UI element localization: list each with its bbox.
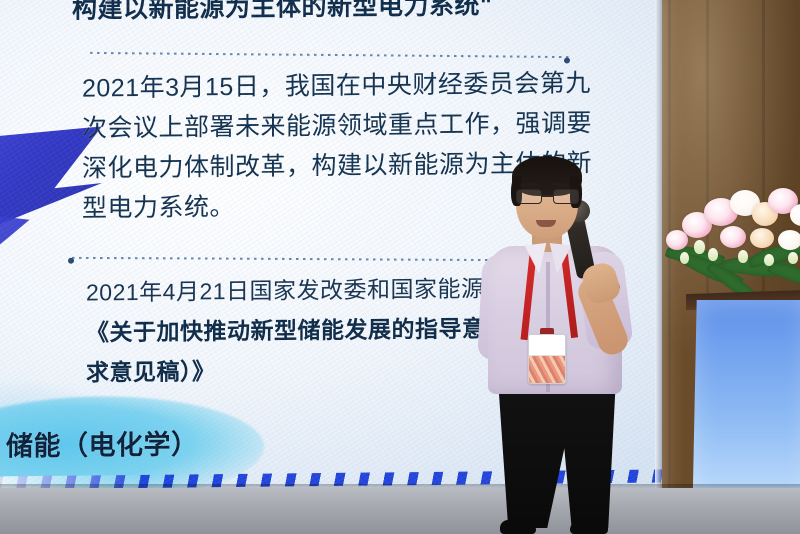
glasses-bridge	[542, 195, 553, 197]
slide-paragraph-line-1: 2021年3月15日，我国在中央财经委员会第九	[82, 63, 591, 104]
badge-top-panel	[529, 335, 565, 356]
badge-bottom-panel	[529, 356, 565, 383]
stage-floor	[0, 488, 800, 534]
slide-title-line: 构建以新能源为主体的新型电力系统"	[72, 0, 492, 26]
slide-blue-wedge-graphic-small	[0, 207, 44, 278]
name-badge	[528, 334, 566, 384]
flower-arrangement	[664, 182, 800, 302]
slide-leader-line	[90, 52, 570, 58]
slide-paragraph-line-2: 次会议上部署未来能源领域重点工作，强调要	[82, 103, 592, 144]
slide-second-block-line-3: 求意见稿）》	[86, 352, 216, 387]
slide-paragraph-line-4: 型电力系统。	[82, 187, 235, 225]
speaker-trousers	[496, 386, 618, 528]
glasses-lens-right	[553, 189, 579, 204]
presentation-photo-scene: 构建以新能源为主体的新型电力系统" 2021年3月15日，我国在中央财经委员会第…	[0, 0, 800, 534]
speaker-figure	[470, 158, 680, 534]
speaker-shoe-left	[500, 520, 536, 534]
glasses-lens-left	[516, 189, 542, 204]
slide-second-block-line-1: 2021年4月21日国家发改委和国家能源局	[86, 269, 508, 307]
eyeglasses-icon	[515, 189, 581, 204]
slide-bottom-tag: 储能（电化学）	[6, 422, 199, 463]
slide-leader-dot	[68, 258, 74, 264]
speaker-shoe-right	[570, 520, 608, 534]
